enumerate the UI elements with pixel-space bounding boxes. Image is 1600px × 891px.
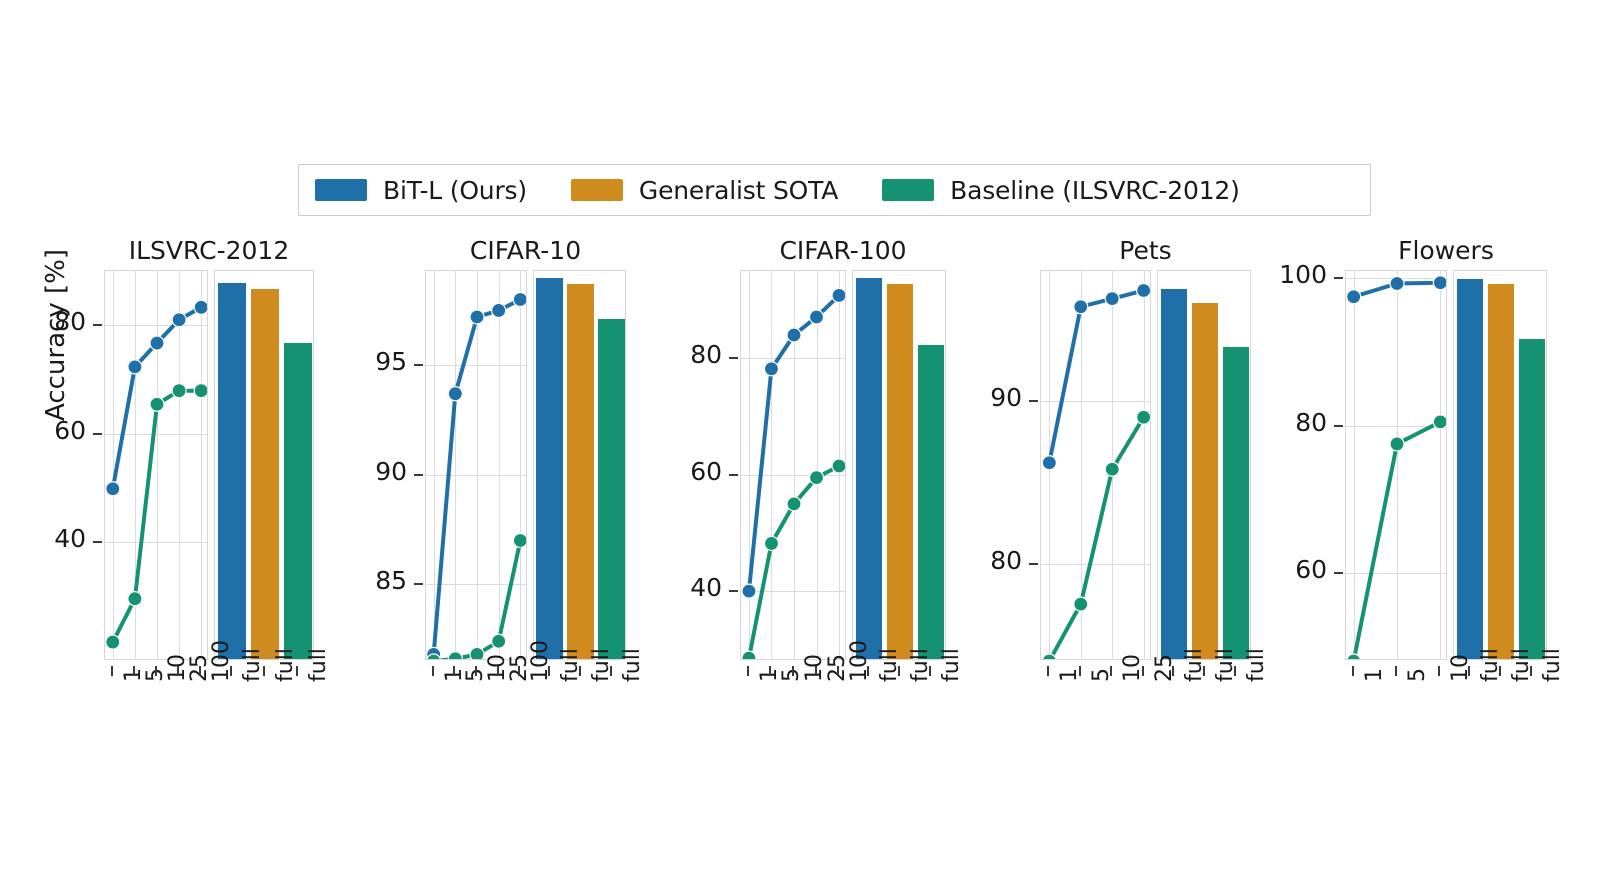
y-tick-label: 40 xyxy=(0,524,86,553)
x-tick-mark xyxy=(610,666,612,676)
legend-item-bit_l[interactable]: BiT-L (Ours) xyxy=(315,176,527,205)
x-tick-label: full xyxy=(939,648,964,682)
line-axes-ilsvrc-2012 xyxy=(104,270,208,660)
x-tick-mark xyxy=(155,666,157,676)
x-tick-mark xyxy=(815,666,817,676)
x-tick-mark xyxy=(497,666,499,676)
line-path xyxy=(113,391,201,642)
data-point-marker[interactable] xyxy=(742,651,756,660)
bar-axes-flowers xyxy=(1453,270,1547,660)
data-point-marker[interactable] xyxy=(810,471,824,485)
x-tick-label: full xyxy=(240,648,265,682)
panel-title: ILSVRC-2012 xyxy=(104,236,314,265)
bar-axes-cifar-10 xyxy=(533,270,626,660)
x-tick-mark xyxy=(1079,666,1081,676)
panel-title: Flowers xyxy=(1345,236,1547,265)
y-tick-mark xyxy=(1029,563,1038,565)
data-point-marker[interactable] xyxy=(1074,300,1088,314)
x-tick-mark xyxy=(1234,666,1236,676)
bar-generalist-sota[interactable] xyxy=(567,284,593,659)
y-tick-label: 80 xyxy=(0,307,86,336)
bar-baseline-ilsvrc-2012[interactable] xyxy=(598,319,624,659)
x-tick-mark xyxy=(1530,666,1532,676)
bar-generalist-sota[interactable] xyxy=(251,289,279,660)
x-tick-label: 100 xyxy=(528,640,553,682)
x-tick-mark xyxy=(177,666,179,676)
y-tick-label: 80 xyxy=(630,340,722,369)
y-tick-mark xyxy=(93,324,102,326)
x-tick-mark xyxy=(453,666,455,676)
y-tick-label: 100 xyxy=(1235,260,1327,289)
line-path xyxy=(749,466,839,658)
data-point-marker[interactable] xyxy=(150,336,164,350)
x-tick-label: full xyxy=(1244,648,1269,682)
bar-axes-ilsvrc-2012 xyxy=(214,270,314,660)
data-point-marker[interactable] xyxy=(1347,290,1361,304)
data-point-marker[interactable] xyxy=(1433,415,1447,429)
data-point-marker[interactable] xyxy=(194,300,208,314)
data-point-marker[interactable] xyxy=(128,592,142,606)
line-series-group xyxy=(741,271,846,660)
y-tick-mark xyxy=(93,541,102,543)
x-tick-mark xyxy=(898,666,900,676)
figure-canvas: BiT-L (Ours)Generalist SOTABaseline (ILS… xyxy=(0,0,1600,891)
panel-title: Pets xyxy=(1040,236,1251,265)
data-point-marker[interactable] xyxy=(764,536,778,550)
data-point-marker[interactable] xyxy=(513,292,527,306)
legend-swatch-baseline xyxy=(882,179,934,201)
data-point-marker[interactable] xyxy=(513,533,527,547)
legend-swatch-bit_l xyxy=(315,179,367,201)
y-tick-label: 80 xyxy=(1235,408,1327,437)
x-tick-mark xyxy=(1203,666,1205,676)
legend-label-bit_l: BiT-L (Ours) xyxy=(383,176,527,205)
y-tick-mark xyxy=(1334,425,1343,427)
x-tick-mark xyxy=(111,666,113,676)
x-tick-mark xyxy=(1352,666,1354,676)
line-axes-cifar-10 xyxy=(425,270,527,660)
bar-axes-cifar-100 xyxy=(852,270,946,660)
x-tick-mark xyxy=(518,666,520,676)
x-tick-mark xyxy=(792,666,794,676)
data-point-marker[interactable] xyxy=(106,482,120,496)
bar-bit-l-ours[interactable] xyxy=(536,278,562,659)
y-tick-label: 90 xyxy=(930,383,1022,412)
data-point-marker[interactable] xyxy=(172,384,186,398)
x-tick-mark xyxy=(769,666,771,676)
y-tick-mark xyxy=(1334,277,1343,279)
bar-baseline-ilsvrc-2012[interactable] xyxy=(1223,347,1249,659)
x-tick-mark xyxy=(1499,666,1501,676)
data-point-marker[interactable] xyxy=(1137,410,1151,424)
y-tick-mark xyxy=(729,357,738,359)
y-tick-label: 90 xyxy=(315,457,407,486)
bar-baseline-ilsvrc-2012[interactable] xyxy=(284,343,312,659)
line-series-group xyxy=(105,271,208,660)
x-tick-label: full xyxy=(1540,648,1565,682)
data-point-marker[interactable] xyxy=(1137,284,1151,298)
y-tick-mark xyxy=(1029,400,1038,402)
x-tick-mark xyxy=(929,666,931,676)
x-tick-mark xyxy=(296,666,298,676)
line-axes-cifar-100 xyxy=(740,270,846,660)
y-tick-mark xyxy=(93,433,102,435)
data-point-marker[interactable] xyxy=(810,310,824,324)
data-point-marker[interactable] xyxy=(172,313,186,327)
bar-generalist-sota[interactable] xyxy=(1488,284,1514,659)
data-point-marker[interactable] xyxy=(1042,456,1056,470)
data-point-marker[interactable] xyxy=(832,288,846,302)
x-tick-mark xyxy=(1395,666,1397,676)
x-tick-label: full xyxy=(306,648,331,682)
data-point-marker[interactable] xyxy=(1390,437,1404,451)
y-tick-label: 40 xyxy=(630,573,722,602)
line-path xyxy=(1354,422,1441,660)
y-tick-label: 85 xyxy=(315,566,407,595)
data-point-marker[interactable] xyxy=(1105,292,1119,306)
x-tick-mark xyxy=(1438,666,1440,676)
panel-title: CIFAR-100 xyxy=(740,236,946,265)
legend-item-baseline[interactable]: Baseline (ILSVRC-2012) xyxy=(882,176,1240,205)
data-point-marker[interactable] xyxy=(492,303,506,317)
chart-legend: BiT-L (Ours)Generalist SOTABaseline (ILS… xyxy=(298,164,1371,216)
x-tick-mark xyxy=(1468,666,1470,676)
x-tick-mark xyxy=(1047,666,1049,676)
x-tick-mark xyxy=(133,666,135,676)
line-series-group xyxy=(1346,271,1447,660)
x-tick-mark xyxy=(199,666,201,676)
data-point-marker[interactable] xyxy=(492,634,506,648)
legend-label-generalist_sota: Generalist SOTA xyxy=(639,176,838,205)
bar-axes-pets xyxy=(1157,270,1251,660)
bar-generalist-sota[interactable] xyxy=(887,284,913,659)
x-tick-mark xyxy=(230,666,232,676)
x-tick-label: full xyxy=(273,648,298,682)
bar-bit-l-ours[interactable] xyxy=(856,278,882,659)
line-axes-pets xyxy=(1040,270,1151,660)
data-point-marker[interactable] xyxy=(1074,597,1088,611)
y-tick-mark xyxy=(729,474,738,476)
data-point-marker[interactable] xyxy=(787,497,801,511)
x-tick-mark xyxy=(475,666,477,676)
x-tick-mark xyxy=(1142,666,1144,676)
line-axes-flowers xyxy=(1345,270,1447,660)
y-tick-label: 80 xyxy=(930,546,1022,575)
y-tick-label: 95 xyxy=(315,347,407,376)
legend-item-generalist_sota[interactable]: Generalist SOTA xyxy=(571,176,838,205)
bar-bit-l-ours[interactable] xyxy=(1161,289,1187,660)
y-tick-label: 60 xyxy=(630,457,722,486)
bar-bit-l-ours[interactable] xyxy=(218,283,246,659)
x-tick-mark xyxy=(837,666,839,676)
x-tick-mark xyxy=(1172,666,1174,676)
y-tick-label: 60 xyxy=(0,416,86,445)
y-tick-label: 60 xyxy=(1235,555,1327,584)
x-tick-label: full xyxy=(620,648,645,682)
line-series-group xyxy=(426,271,527,660)
bar-bit-l-ours[interactable] xyxy=(1457,279,1483,659)
bar-baseline-ilsvrc-2012[interactable] xyxy=(1519,339,1545,659)
legend-label-baseline: Baseline (ILSVRC-2012) xyxy=(950,176,1240,205)
data-point-marker[interactable] xyxy=(194,384,208,398)
data-point-marker[interactable] xyxy=(150,397,164,411)
x-tick-mark xyxy=(747,666,749,676)
y-tick-mark xyxy=(414,474,423,476)
data-point-marker[interactable] xyxy=(448,652,462,660)
data-point-marker[interactable] xyxy=(1105,462,1119,476)
data-point-marker[interactable] xyxy=(787,328,801,342)
x-tick-mark xyxy=(1110,666,1112,676)
legend-swatch-generalist_sota xyxy=(571,179,623,201)
data-point-marker[interactable] xyxy=(448,387,462,401)
data-point-marker[interactable] xyxy=(470,310,484,324)
data-point-marker[interactable] xyxy=(764,362,778,376)
y-tick-mark xyxy=(729,590,738,592)
data-point-marker[interactable] xyxy=(128,360,142,374)
bar-generalist-sota[interactable] xyxy=(1192,303,1218,659)
y-tick-mark xyxy=(414,364,423,366)
y-tick-mark xyxy=(414,583,423,585)
panel-title: CIFAR-10 xyxy=(425,236,626,265)
data-point-marker[interactable] xyxy=(1390,277,1404,291)
data-point-marker[interactable] xyxy=(1433,276,1447,290)
data-point-marker[interactable] xyxy=(470,647,484,660)
x-tick-mark xyxy=(579,666,581,676)
x-tick-mark xyxy=(432,666,434,676)
y-tick-mark xyxy=(1334,572,1343,574)
x-tick-mark xyxy=(548,666,550,676)
x-tick-mark xyxy=(867,666,869,676)
data-point-marker[interactable] xyxy=(1347,654,1361,660)
data-point-marker[interactable] xyxy=(106,635,120,649)
x-tick-label: 1 xyxy=(1362,668,1387,682)
x-tick-label: 5 xyxy=(1405,668,1430,682)
data-point-marker[interactable] xyxy=(832,459,846,473)
line-path xyxy=(1049,417,1143,660)
x-tick-mark xyxy=(263,666,265,676)
line-series-group xyxy=(1041,271,1151,660)
data-point-marker[interactable] xyxy=(742,584,756,598)
line-path xyxy=(434,540,521,660)
